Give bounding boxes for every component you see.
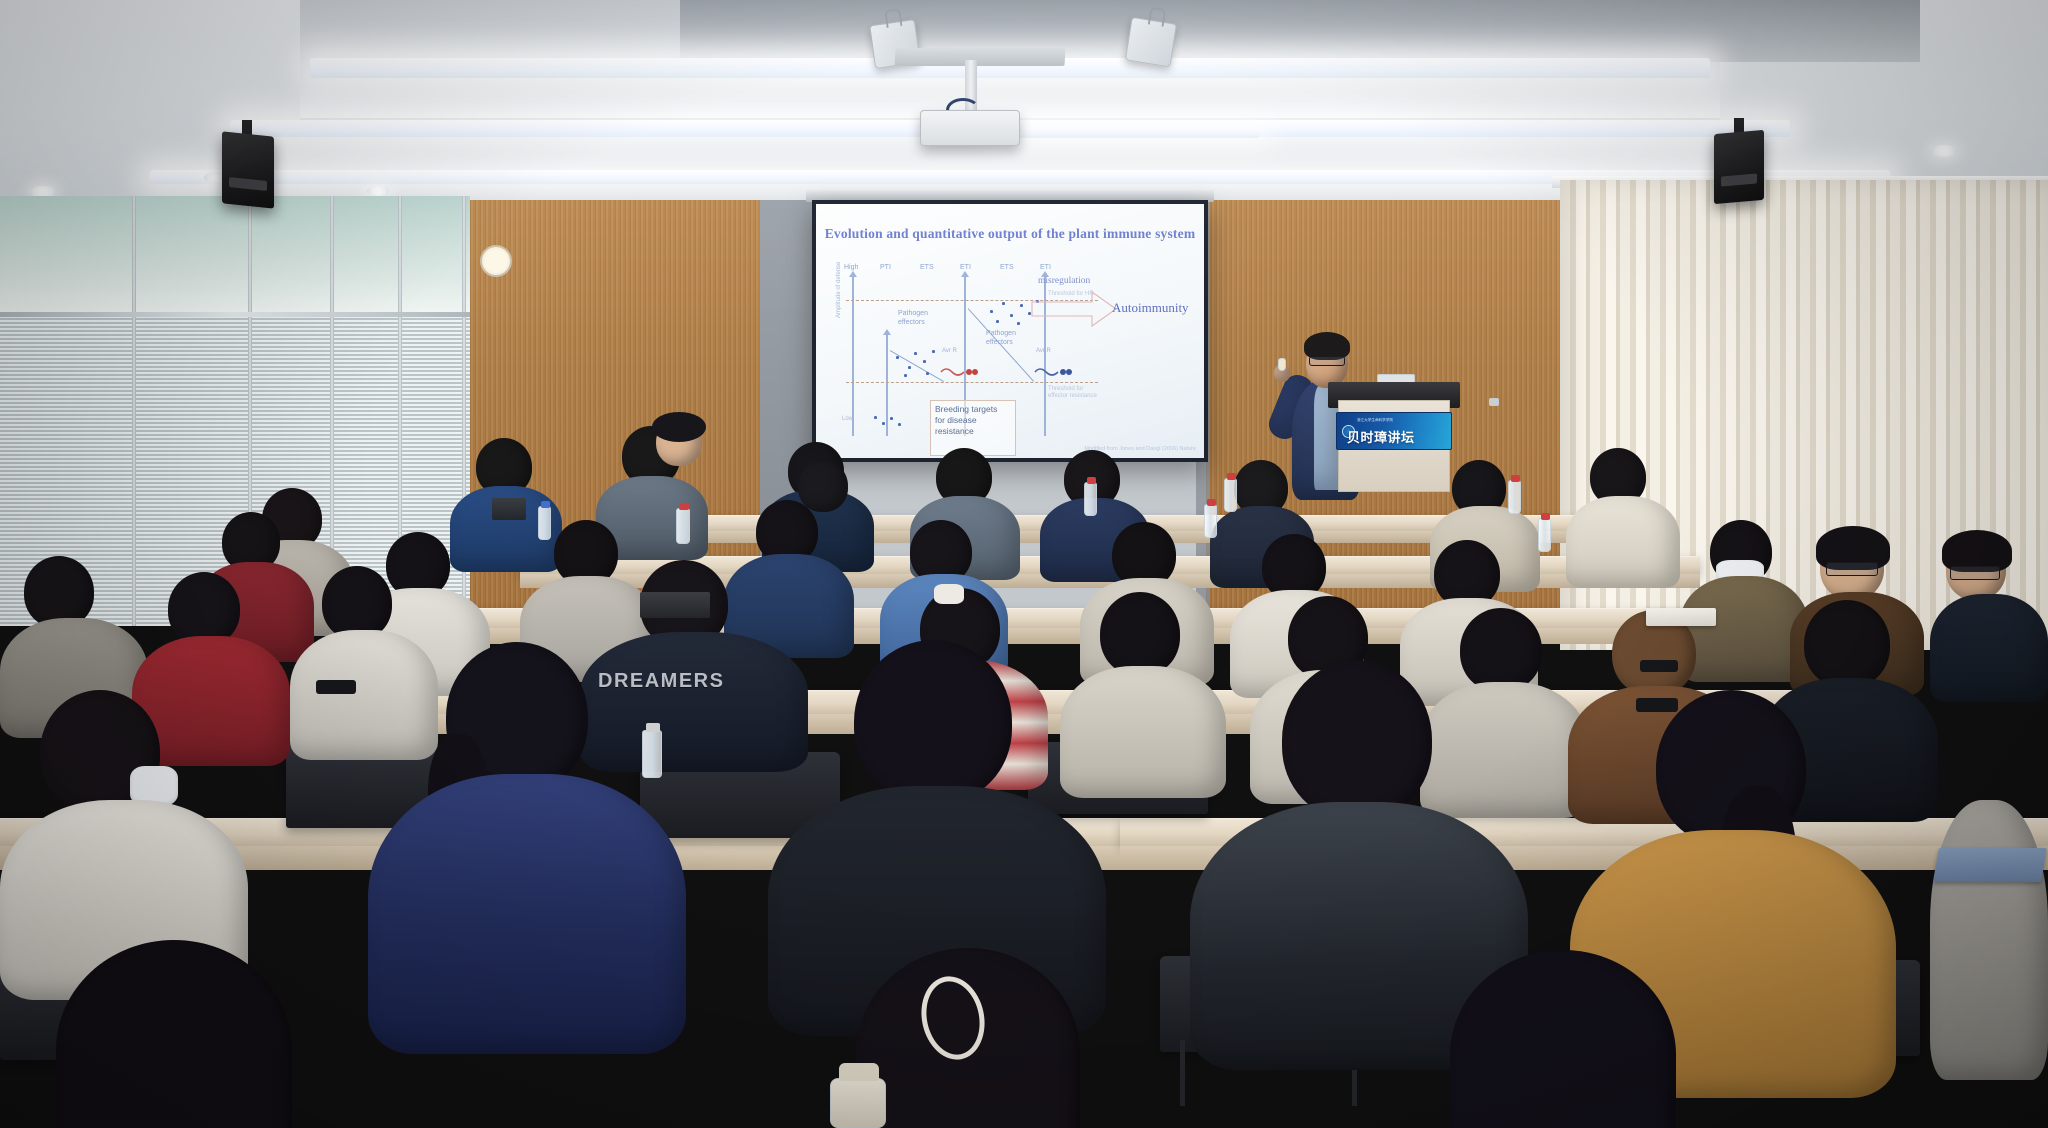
eyeglasses bbox=[1950, 566, 2000, 580]
head bbox=[854, 640, 1012, 804]
audience-member bbox=[1450, 950, 1680, 1128]
audience-member bbox=[368, 642, 688, 1042]
water-bottle[interactable] bbox=[1084, 482, 1097, 516]
notebook[interactable] bbox=[1646, 608, 1716, 626]
podium-banner: 浙江大学生命科学学院 贝时璋讲坛 bbox=[1336, 412, 1452, 450]
bottle-cap bbox=[541, 501, 550, 508]
water-bottle[interactable] bbox=[642, 730, 662, 778]
phase-label-eti-1: ETI bbox=[960, 264, 971, 271]
misregulation-label: misregulation bbox=[1038, 276, 1090, 286]
bottle-cap bbox=[1207, 499, 1216, 506]
callout-line-3: resistance bbox=[935, 426, 1011, 437]
threshold-effector-line bbox=[846, 382, 1098, 383]
receptor-squiggle-blue bbox=[1034, 364, 1074, 378]
thermos-bottle[interactable] bbox=[830, 1078, 886, 1128]
water-bottle[interactable] bbox=[1508, 480, 1521, 514]
presenter-glasses bbox=[1309, 356, 1345, 366]
bottle-cap bbox=[1541, 513, 1550, 520]
torso bbox=[1930, 800, 2048, 1080]
autoimmunity-label: Autoimmunity bbox=[1112, 300, 1189, 316]
callout-line-1: Breeding targets bbox=[935, 404, 1011, 415]
bottle-cap bbox=[1227, 473, 1236, 480]
receptor-squiggle-red bbox=[940, 364, 980, 378]
laptop[interactable] bbox=[640, 592, 710, 618]
pathogen-effectors-label-1: Pathogen effectors bbox=[898, 310, 938, 328]
recessed-downlight bbox=[1931, 145, 1957, 157]
phase-label-eti-2: ETI bbox=[1040, 264, 1051, 271]
projection-screen: Evolution and quantitative output of the… bbox=[812, 200, 1208, 462]
water-bottle[interactable] bbox=[1224, 478, 1237, 512]
audience-member bbox=[0, 690, 250, 980]
phone[interactable] bbox=[316, 680, 356, 694]
torso bbox=[1566, 496, 1680, 588]
bottle-cap bbox=[1087, 477, 1096, 484]
effector-dots-cluster-1 bbox=[892, 348, 946, 380]
audience-member bbox=[640, 418, 720, 514]
avr-r-label-2: Avr R bbox=[1036, 348, 1051, 354]
callout-line-2: for disease bbox=[935, 415, 1011, 426]
phase-label-ets-2: ETS bbox=[1000, 264, 1014, 271]
puffer-jacket-torso bbox=[368, 774, 686, 1054]
phase-label-pti: PTI bbox=[880, 264, 891, 271]
bottle-cap bbox=[1511, 475, 1520, 482]
hair bbox=[652, 412, 706, 442]
water-bottle[interactable] bbox=[1204, 504, 1217, 538]
hair-claw-clip bbox=[934, 584, 964, 604]
wall-speaker bbox=[1714, 130, 1764, 204]
banner-school-name: 浙江大学生命科学学院 bbox=[1357, 418, 1393, 423]
window-transom bbox=[0, 312, 470, 317]
pathogen-effectors-label-2: Pathogen effectors bbox=[986, 330, 1026, 348]
y-axis-label: Amplitude of defense bbox=[836, 262, 842, 318]
head bbox=[56, 940, 292, 1128]
head bbox=[322, 566, 392, 640]
chair-leg bbox=[1180, 1040, 1185, 1106]
head bbox=[1450, 950, 1676, 1128]
torso bbox=[1930, 594, 2048, 702]
bottle-cap bbox=[839, 1063, 879, 1081]
laptop[interactable] bbox=[492, 498, 526, 520]
wall-clock bbox=[480, 245, 512, 277]
projector-ceiling-plate bbox=[895, 48, 1066, 66]
ceiling-spotlight bbox=[1125, 17, 1177, 68]
eyeglasses bbox=[1826, 562, 1878, 576]
head bbox=[1804, 600, 1890, 688]
audience-member bbox=[56, 940, 306, 1128]
audience-member bbox=[1930, 536, 2048, 686]
wall-sensor bbox=[1489, 398, 1499, 406]
recessed-downlight bbox=[367, 186, 389, 196]
head bbox=[1282, 660, 1432, 820]
pamps-dots bbox=[872, 414, 904, 428]
bottle-cap bbox=[646, 723, 660, 732]
audience-member bbox=[856, 948, 1086, 1128]
wall-speaker bbox=[222, 131, 274, 208]
y-low-label: Low bbox=[842, 416, 853, 422]
phase-label-high: High bbox=[844, 264, 858, 271]
water-bottle[interactable] bbox=[538, 506, 551, 540]
threshold-effector-label: Threshold for effector resistance bbox=[1048, 386, 1100, 400]
bottle-cap bbox=[679, 503, 689, 510]
light-strip bbox=[1000, 128, 1260, 138]
phone[interactable] bbox=[1636, 698, 1678, 712]
avr-r-label-1: Avr R bbox=[942, 348, 957, 354]
banner-main-title: 贝时璋讲坛 bbox=[1347, 427, 1447, 446]
phone[interactable] bbox=[1640, 660, 1678, 672]
notebook[interactable] bbox=[1933, 848, 2047, 882]
lecture-hall-photo: Evolution and quantitative output of the… bbox=[0, 0, 2048, 1128]
water-bottle[interactable] bbox=[676, 508, 690, 544]
head bbox=[168, 572, 240, 646]
ceiling-projector bbox=[920, 110, 1020, 146]
audience-member bbox=[1930, 760, 2048, 1090]
phase-label-ets-1: ETS bbox=[920, 264, 934, 271]
slide-content: Evolution and quantitative output of the… bbox=[816, 204, 1204, 458]
presentation-clicker[interactable] bbox=[1278, 358, 1286, 371]
water-bottle[interactable] bbox=[1538, 518, 1551, 552]
head bbox=[1100, 592, 1180, 676]
slide-title: Evolution and quantitative output of the… bbox=[816, 226, 1204, 242]
misregulation-arrow bbox=[1030, 290, 1118, 328]
audience-member bbox=[1566, 448, 1682, 574]
coffer-recess bbox=[680, 0, 1920, 62]
